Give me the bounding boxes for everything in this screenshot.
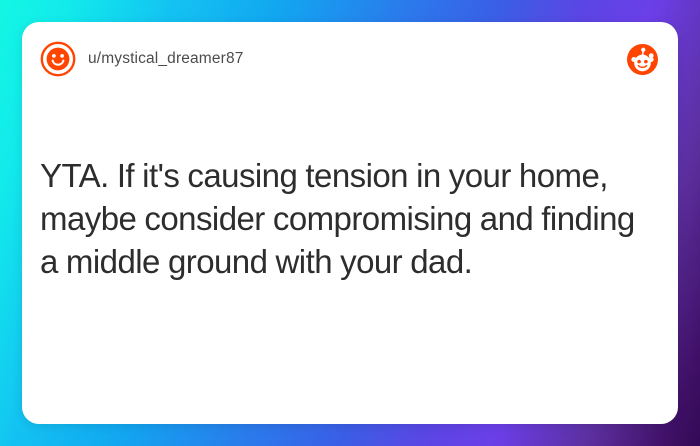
screenshot-root: u/mystical_dreamer87 YTA. If it xyxy=(0,0,700,446)
username-label[interactable]: u/mystical_dreamer87 xyxy=(88,50,243,68)
card-body: YTA. If it's causing tension in your hom… xyxy=(40,154,660,283)
reddit-comment-card: u/mystical_dreamer87 YTA. If it xyxy=(22,22,678,424)
reddit-snoo-icon[interactable] xyxy=(627,44,658,75)
smiley-face-avatar-icon[interactable] xyxy=(40,41,76,77)
card-header: u/mystical_dreamer87 xyxy=(22,22,678,96)
comment-text: YTA. If it's causing tension in your hom… xyxy=(40,154,660,283)
